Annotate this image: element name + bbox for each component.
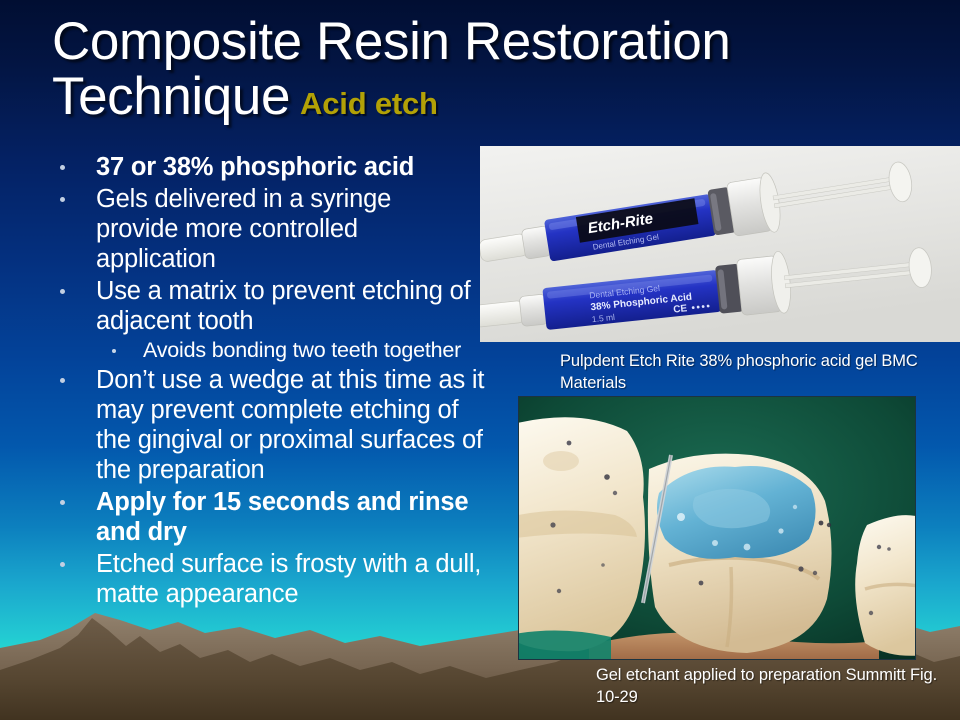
teeth-illustration bbox=[519, 397, 916, 660]
title-line-2: Technique bbox=[52, 67, 290, 126]
bullet-item: Use a matrix to prevent etching of adjac… bbox=[48, 276, 500, 336]
svg-text:CE: CE bbox=[673, 303, 688, 315]
bullet-item: Apply for 15 seconds and rinse and dry bbox=[48, 487, 478, 547]
bullet-item: Gels delivered in a syringe provide more… bbox=[48, 184, 478, 274]
caption-syringes: Pulpdent Etch Rite 38% phosphoric acid g… bbox=[560, 350, 940, 394]
title-line-2-wrap: TechniqueAcid etch bbox=[52, 69, 892, 131]
syringes-illustration: Etch-Rite Dental Etching Gel bbox=[480, 146, 960, 342]
syringes-photo: Etch-Rite Dental Etching Gel bbox=[480, 146, 960, 342]
bullet-item: 37 or 38% phosphoric acid bbox=[48, 152, 478, 182]
slide-title: Composite Resin Restoration TechniqueAci… bbox=[52, 14, 892, 131]
slide: Composite Resin Restoration TechniqueAci… bbox=[0, 0, 960, 720]
caption-teeth: Gel etchant applied to preparation Summi… bbox=[596, 664, 956, 708]
bullet-item-sub: Avoids bonding two teeth together bbox=[48, 338, 478, 363]
title-line-1: Composite Resin Restoration bbox=[52, 14, 892, 69]
bullet-item: Don’t use a wedge at this time as it may… bbox=[48, 365, 500, 485]
bullet-list: 37 or 38% phosphoric acid Gels delivered… bbox=[48, 152, 478, 611]
title-subtitle: Acid etch bbox=[300, 86, 438, 121]
bullet-item: Etched surface is frosty with a dull, ma… bbox=[48, 549, 500, 609]
teeth-photo bbox=[518, 396, 916, 660]
